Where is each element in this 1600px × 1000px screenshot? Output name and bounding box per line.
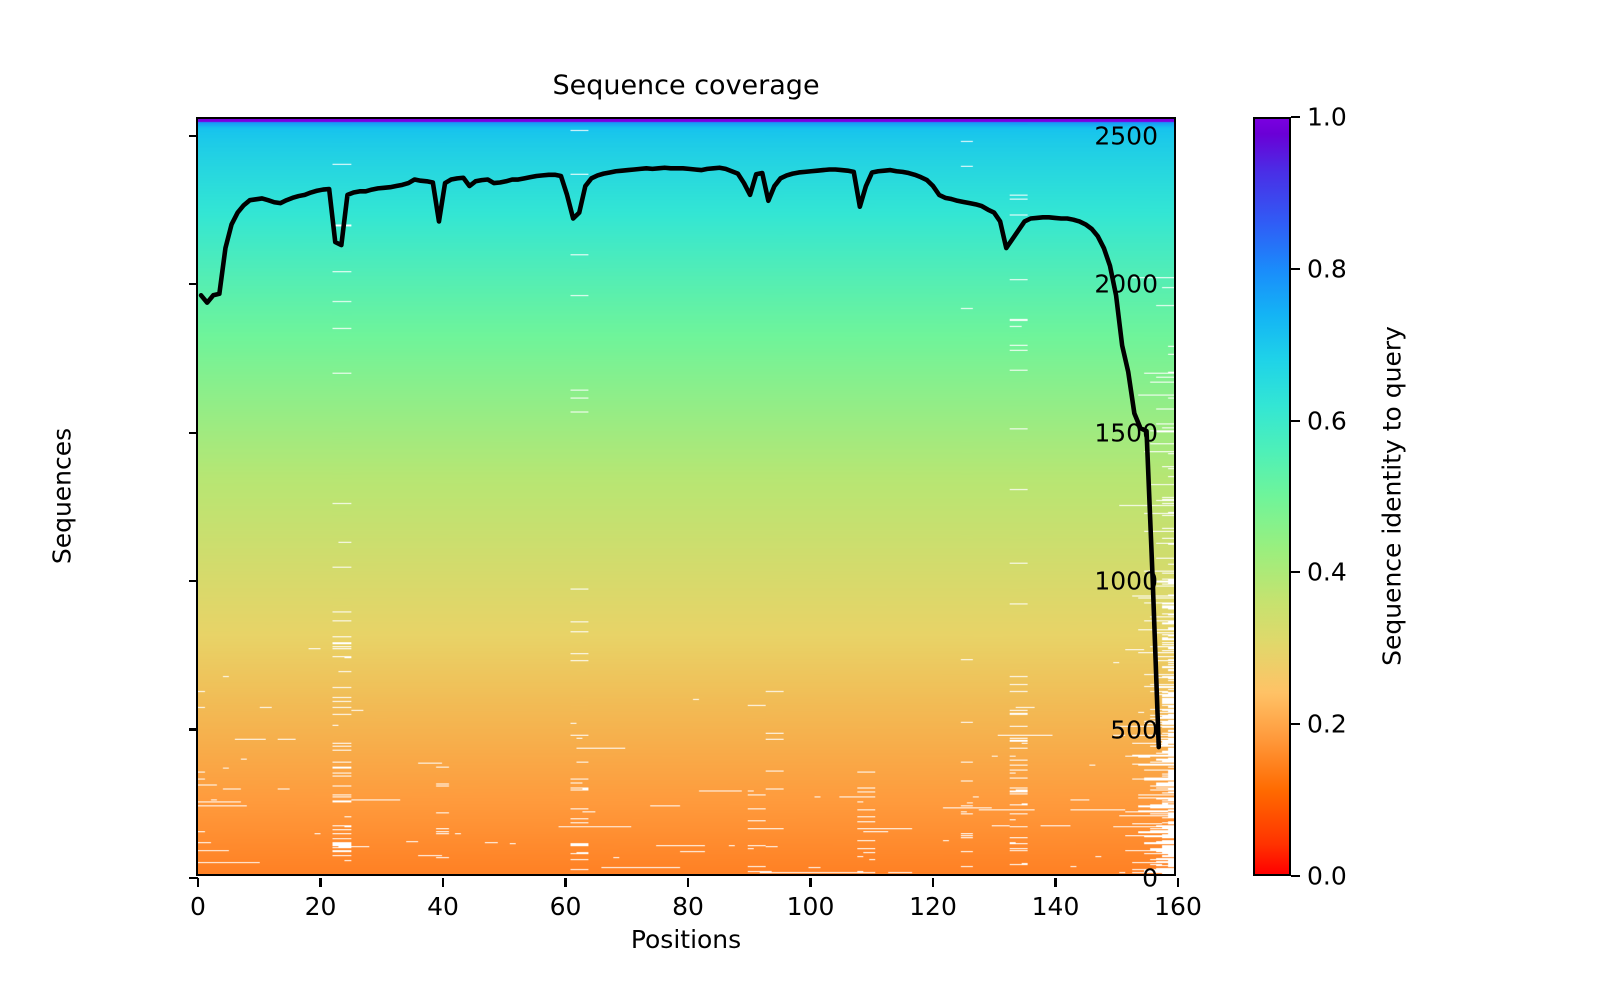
colorbar-tick-mark: [1291, 268, 1300, 270]
y-tick-label-1500: 1500: [1094, 418, 1158, 447]
x-tick-mark: [687, 878, 689, 887]
x-tick-mark: [809, 878, 811, 887]
x-tick-label-140: 140: [1032, 892, 1080, 921]
y-tick-label-0: 0: [1142, 864, 1158, 893]
y-tick-mark: [189, 283, 198, 285]
colorbar-tick-mark: [1291, 723, 1300, 725]
x-tick-mark: [1177, 878, 1179, 887]
y-tick-mark: [189, 728, 198, 730]
colorbar-tick-label-0.6: 0.6: [1307, 406, 1347, 435]
x-tick-mark: [319, 878, 321, 887]
x-tick-mark: [564, 878, 566, 887]
y-tick-label-2500: 2500: [1094, 121, 1158, 150]
coverage-line: [201, 168, 1159, 747]
colorbar-tick-label-0.8: 0.8: [1307, 254, 1347, 283]
x-tick-mark: [197, 878, 199, 887]
y-tick-mark: [189, 432, 198, 434]
colorbar-tick-mark: [1291, 420, 1300, 422]
y-tick-mark: [189, 135, 198, 137]
figure-canvas: Sequence coverage 05001000150020002500 0…: [0, 0, 1600, 1000]
x-tick-mark: [932, 878, 934, 887]
x-tick-mark: [1054, 878, 1056, 887]
colorbar-tick-label-0.2: 0.2: [1307, 710, 1347, 739]
x-axis-label: Positions: [196, 925, 1176, 954]
y-tick-label-2000: 2000: [1094, 270, 1158, 299]
chart-title: Sequence coverage: [196, 72, 1176, 99]
colorbar-tick-mark: [1291, 875, 1300, 877]
colorbar-tick-label-1.0: 1.0: [1307, 103, 1347, 132]
x-tick-label-40: 40: [427, 892, 459, 921]
y-tick-mark: [189, 580, 198, 582]
x-tick-label-100: 100: [787, 892, 835, 921]
coverage-line-overlay: [198, 119, 1174, 874]
y-tick-label-500: 500: [1110, 715, 1158, 744]
main-axes: 05001000150020002500 0204060801001201401…: [196, 117, 1176, 876]
colorbar: [1253, 117, 1291, 876]
x-tick-mark: [442, 878, 444, 887]
colorbar-tick-label-0.0: 0.0: [1307, 862, 1347, 891]
x-tick-label-160: 160: [1154, 892, 1202, 921]
colorbar-tick-mark: [1291, 116, 1300, 118]
x-tick-label-120: 120: [909, 892, 957, 921]
y-axis-label: Sequences: [48, 428, 77, 564]
colorbar-label: Sequence identity to query: [1378, 326, 1407, 666]
x-tick-label-60: 60: [550, 892, 582, 921]
colorbar-tick-label-0.4: 0.4: [1307, 558, 1347, 587]
colorbar-tick-mark: [1291, 571, 1300, 573]
y-tick-label-1000: 1000: [1094, 567, 1158, 596]
x-tick-label-20: 20: [305, 892, 337, 921]
x-tick-label-80: 80: [672, 892, 704, 921]
x-tick-label-0: 0: [190, 892, 206, 921]
